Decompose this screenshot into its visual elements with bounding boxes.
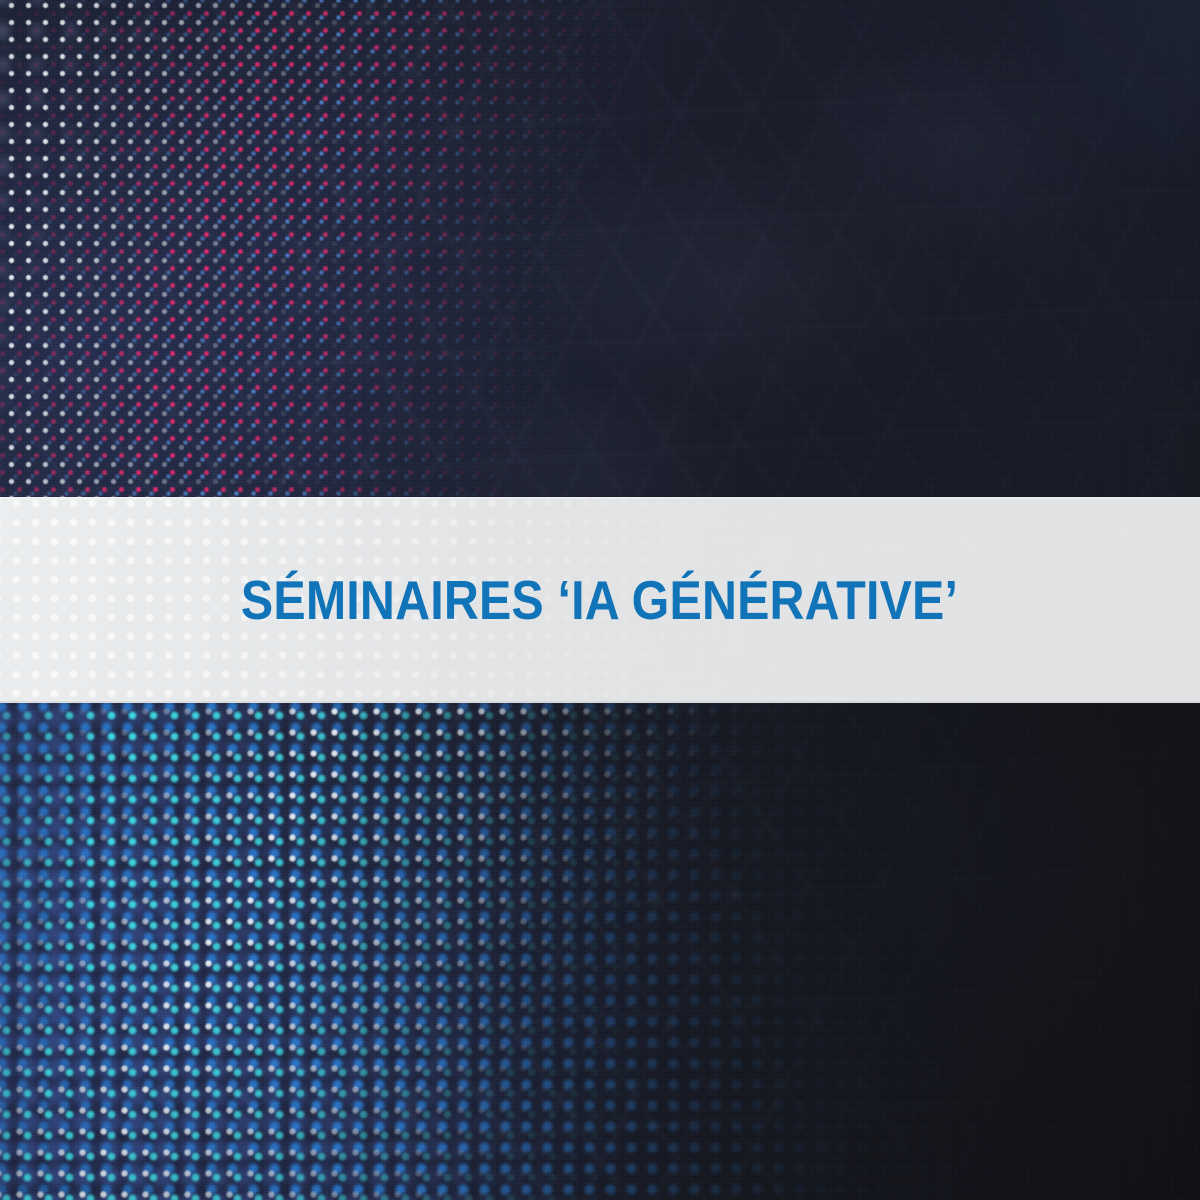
dot-matrix-bottom-fade [0, 700, 1200, 1200]
dot-matrix-bottom-zone [0, 700, 1200, 1200]
promo-banner: SÉMINAIRES ‘IA GÉNÉRATIVE’ [0, 0, 1200, 1200]
dot-matrix-top-zone [0, 0, 1200, 500]
dot-matrix-top-fade [0, 0, 1200, 500]
banner-title: SÉMINAIRES ‘IA GÉNÉRATIVE’ [241, 573, 958, 628]
band-bottom-edge [0, 701, 1200, 703]
title-band: SÉMINAIRES ‘IA GÉNÉRATIVE’ [0, 497, 1200, 703]
band-top-edge [0, 497, 1200, 499]
